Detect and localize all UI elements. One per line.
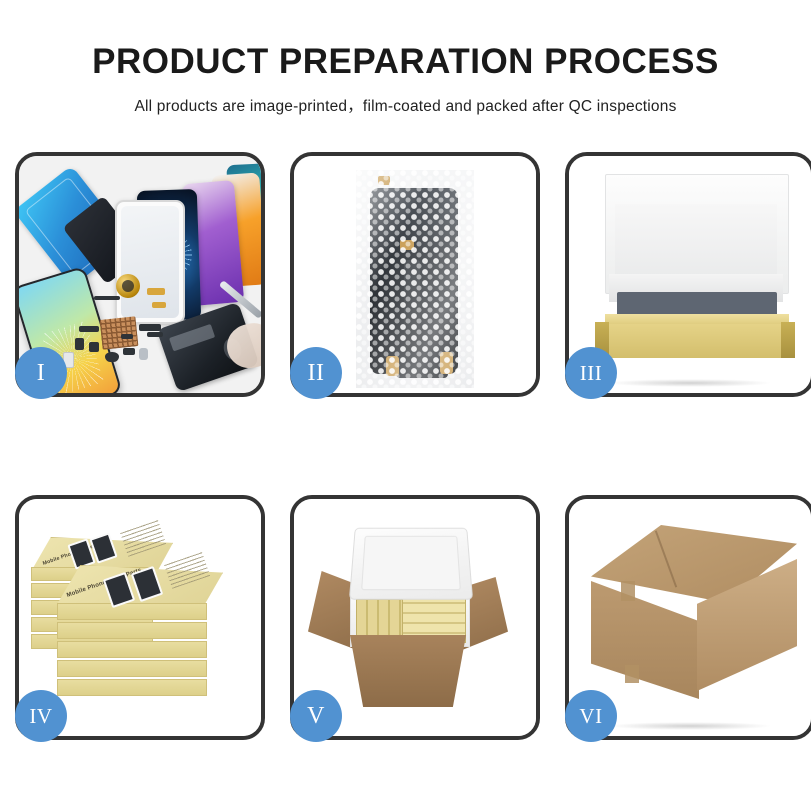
gold-box-tray [605,322,789,358]
small-part [75,338,84,350]
carton-body [342,635,474,707]
small-part [94,296,120,300]
small-part [121,334,133,339]
small-part [152,302,166,308]
speaker-disc-part [116,274,140,298]
small-part [147,288,165,295]
step-card-5: V [290,495,540,740]
white-bezel-glass [115,200,185,324]
retail-box [57,641,207,658]
step-badge-1: I [15,347,67,399]
step-card-6: VI [565,495,811,740]
retail-box [57,679,207,696]
product-preparation-infographic: PRODUCT PREPARATION PROCESS All products… [0,0,811,811]
drop-shadow [608,379,773,387]
plastic-sheen [356,170,474,388]
page-title: PRODUCT PREPARATION PROCESS [0,44,811,81]
step-card-4: Mobile Phone Spare Parts Mobile Phone Sp… [15,495,265,740]
step-badge-6: VI [565,690,617,742]
carton-tape [621,581,635,601]
retail-box [57,660,207,677]
copper-mesh-part [100,316,139,350]
step-badge-4: IV [15,690,67,742]
header: PRODUCT PREPARATION PROCESS All products… [0,0,811,116]
step-badge-5: V [290,690,342,742]
bubble-wrap-bag [356,170,474,388]
retail-box [57,622,207,639]
step-card-3: III [565,152,811,397]
step-badge-2: II [290,347,342,399]
foam-lid [349,528,473,600]
step-card-2: II [290,152,540,397]
small-part [89,342,99,352]
small-part [147,332,163,337]
retail-box [57,603,207,620]
carton-front-face [591,581,699,699]
drop-shadow [608,722,773,730]
small-part [139,348,148,360]
small-part [123,348,135,355]
small-part [139,324,161,331]
process-steps-grid: I II [15,152,811,740]
small-part [105,352,119,362]
gold-box-tray-end [781,322,795,358]
page-subtitle: All products are image-printed，film-coat… [0,94,811,116]
step-badge-3: III [565,347,617,399]
small-part [79,326,99,332]
carton-tape [625,665,639,683]
step-card-1: I [15,152,265,397]
